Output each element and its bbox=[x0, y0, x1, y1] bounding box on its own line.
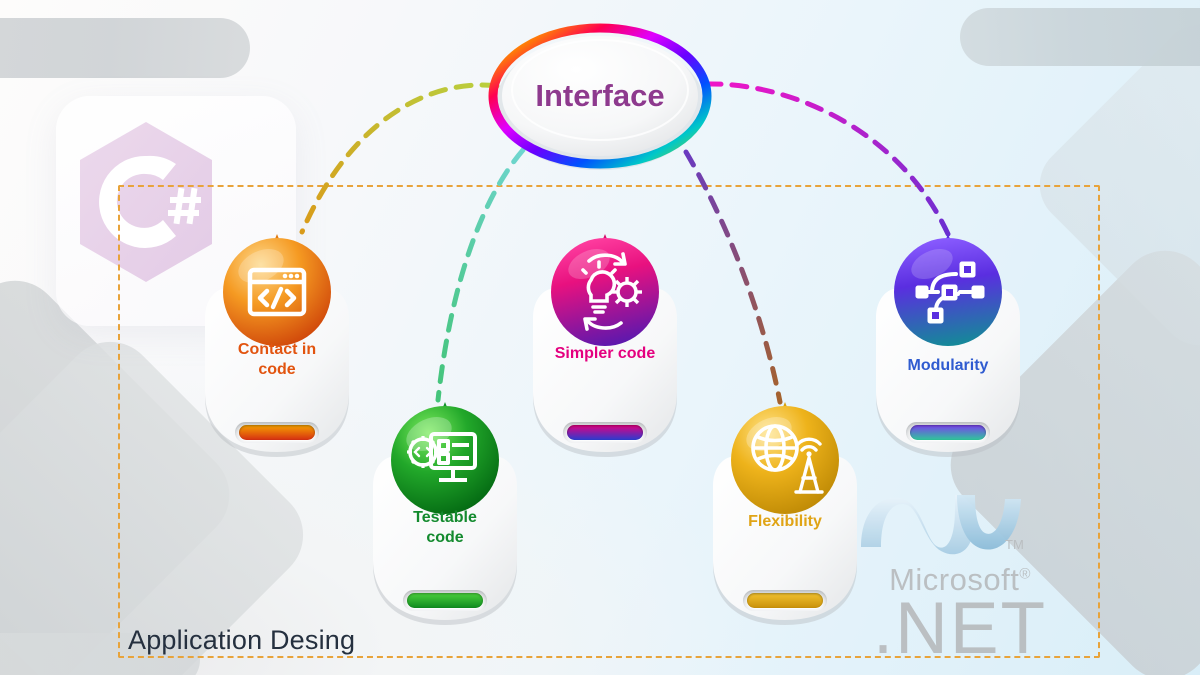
interface-hub[interactable]: Interface bbox=[487, 22, 713, 177]
card-pill[interactable] bbox=[407, 593, 483, 608]
hub-label: Interface bbox=[487, 22, 713, 170]
connector-to-contract-in-code bbox=[302, 85, 497, 232]
card-modularity[interactable]: Modularity bbox=[868, 232, 1028, 457]
card-title: Contact incode bbox=[197, 340, 357, 380]
card-pill-well bbox=[906, 422, 990, 443]
card-pill-well bbox=[403, 590, 487, 611]
card-pill-well bbox=[563, 422, 647, 443]
card-pill-well bbox=[235, 422, 319, 443]
card-contract-in-code[interactable]: Contact incode bbox=[197, 232, 357, 457]
card-pill[interactable] bbox=[910, 425, 986, 440]
card-pill[interactable] bbox=[567, 425, 643, 440]
card-sphere bbox=[727, 400, 843, 516]
card-sphere bbox=[547, 232, 663, 348]
card-title: Modularity bbox=[868, 356, 1028, 376]
card-title: Flexibility bbox=[705, 512, 865, 532]
card-sphere bbox=[890, 232, 1006, 348]
card-pill-well bbox=[743, 590, 827, 611]
connector-to-modularity bbox=[706, 84, 948, 234]
card-pill[interactable] bbox=[239, 425, 315, 440]
card-flexibility[interactable]: Flexibility bbox=[705, 400, 865, 625]
card-sphere bbox=[387, 400, 503, 516]
card-sphere bbox=[219, 232, 335, 348]
card-title: Simpler code bbox=[525, 344, 685, 364]
card-title: Testablecode bbox=[365, 508, 525, 548]
infographic-canvas: TM Microsoft® .NET Application Desing bbox=[0, 0, 1200, 675]
card-simpler-code[interactable]: Simpler code bbox=[525, 232, 685, 457]
card-testable-code[interactable]: Testablecode bbox=[365, 400, 525, 625]
connector-to-testable-code bbox=[438, 150, 523, 400]
connector-to-flexibility bbox=[686, 152, 780, 402]
card-pill[interactable] bbox=[747, 593, 823, 608]
